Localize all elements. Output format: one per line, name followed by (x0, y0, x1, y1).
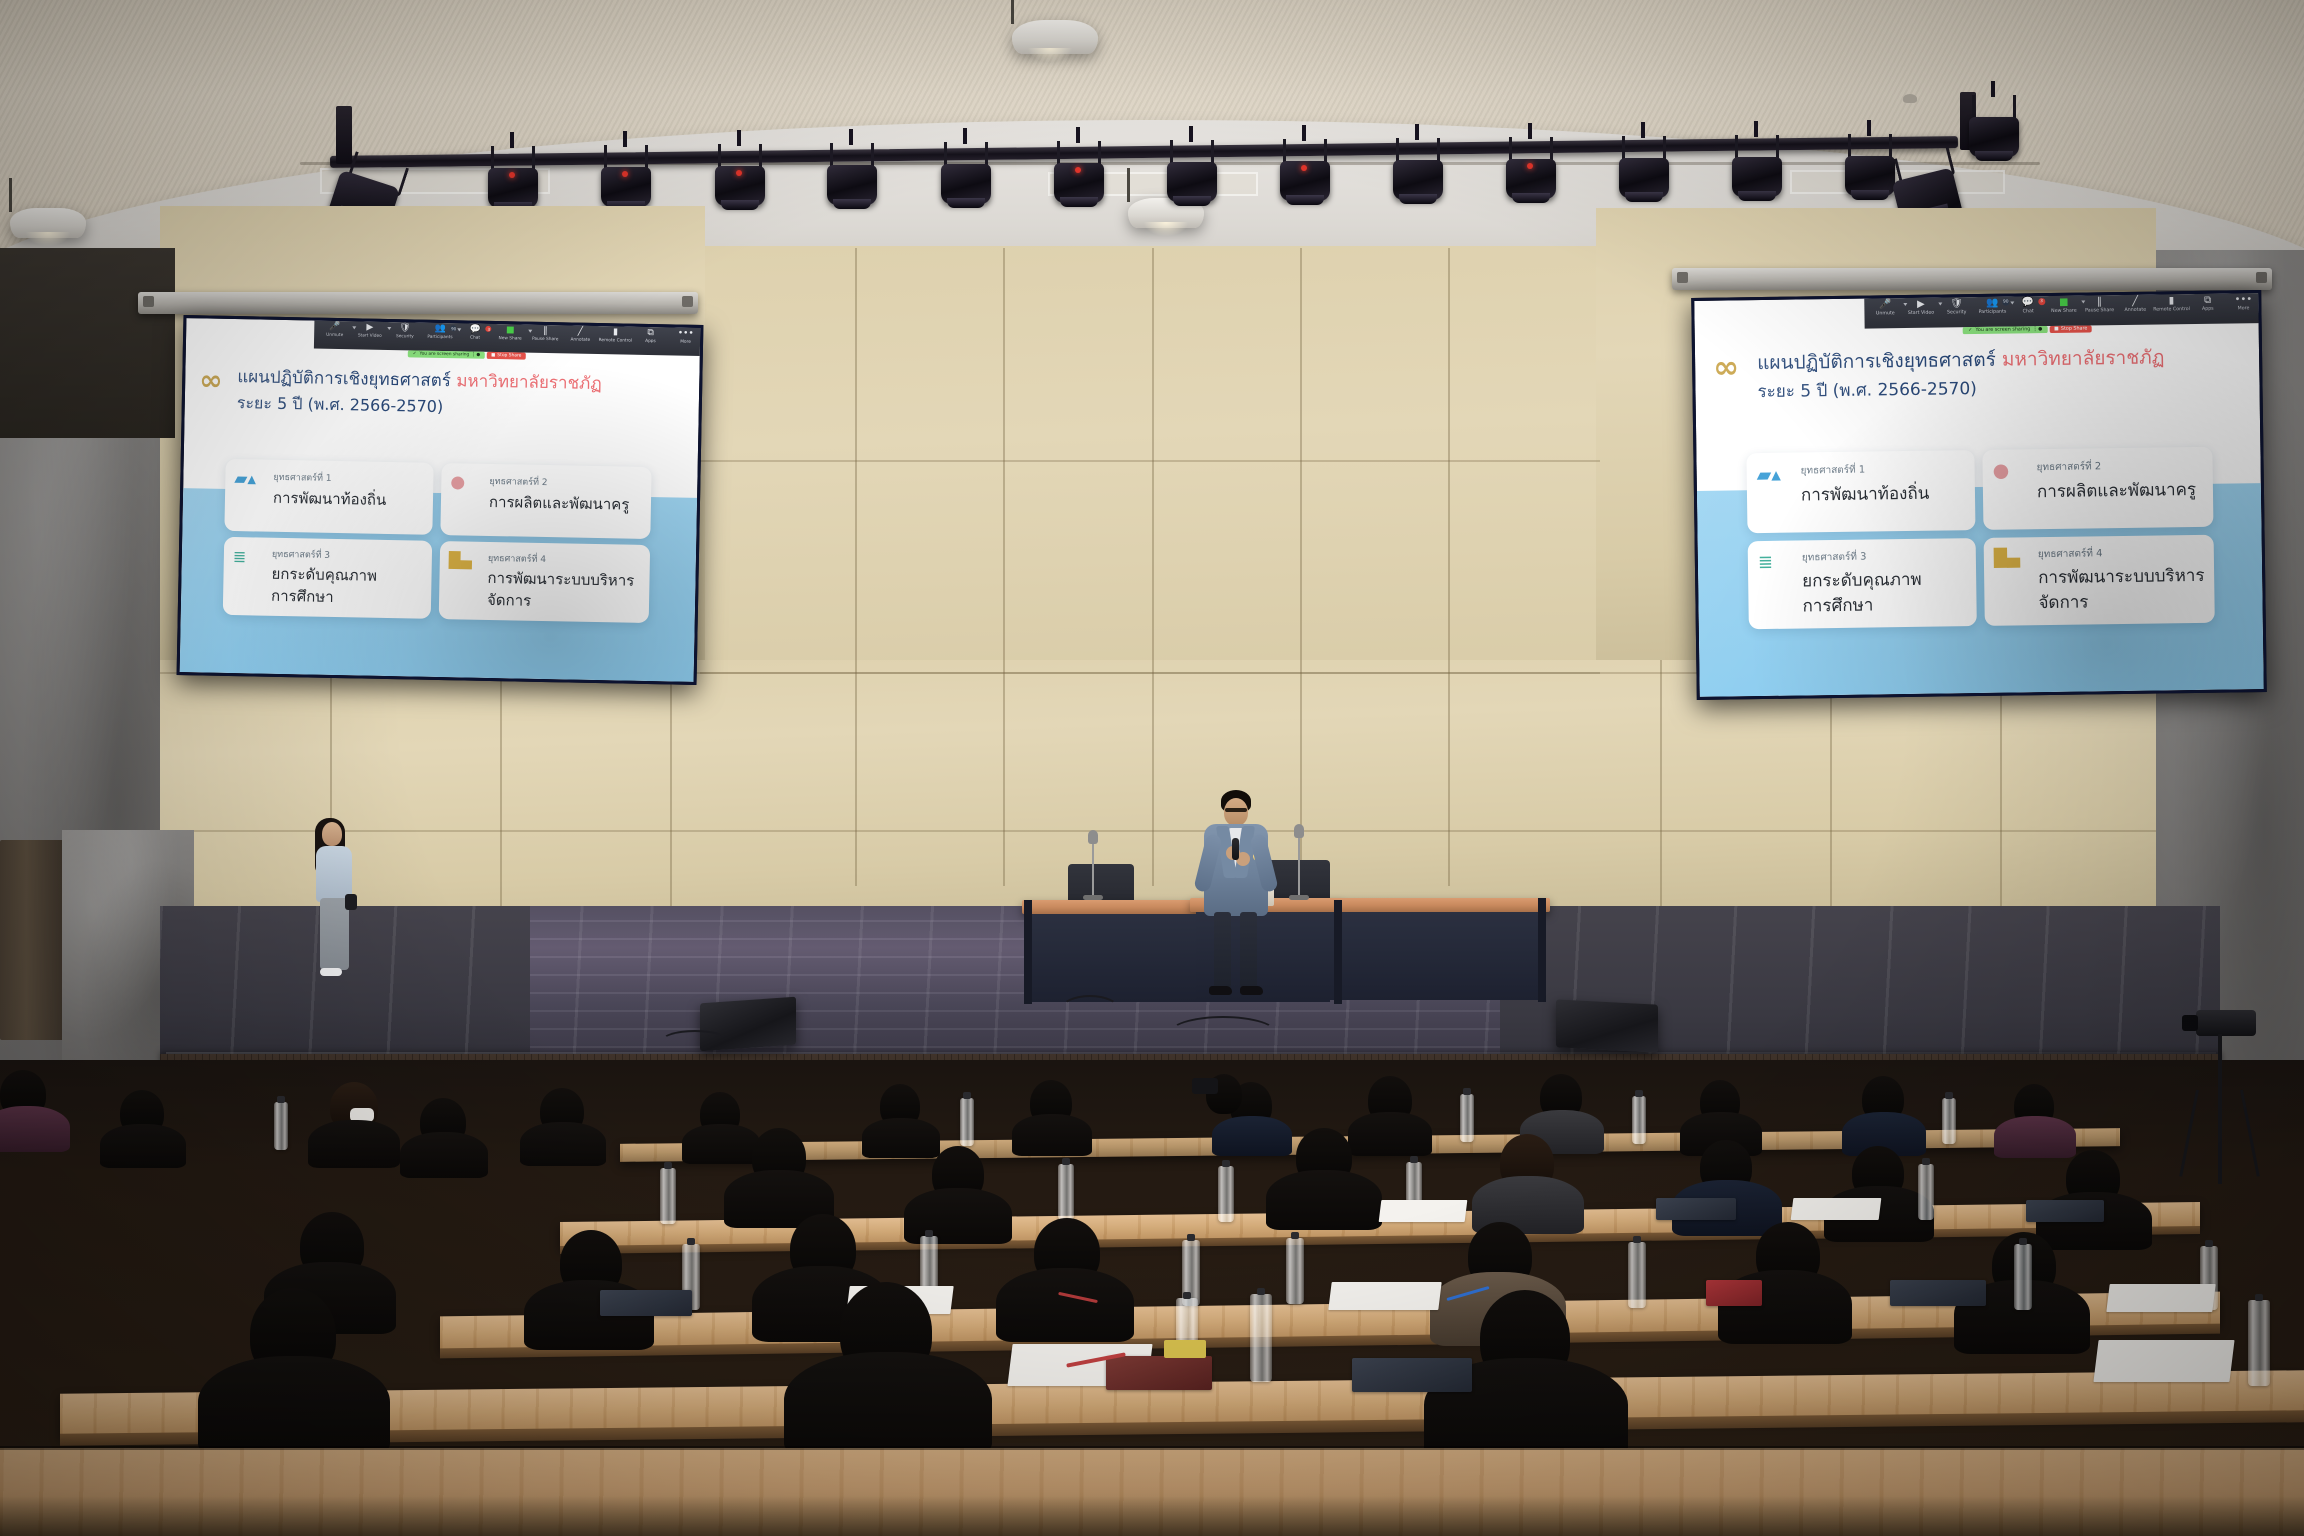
notebook-folder (1352, 1358, 1472, 1392)
audience-shoulders (996, 1268, 1134, 1342)
zoom-toolbar-label: Security (1947, 310, 1966, 315)
dark-wall-left (0, 248, 175, 438)
zoom-toolbar-label: New Share (2051, 309, 2076, 314)
audience-shoulders (520, 1122, 606, 1166)
screen-sharing-indicator: ✓You are screen sharing┆ ● (408, 350, 485, 358)
zoom-toolbar-annotate[interactable]: ╱Annotate (563, 327, 598, 343)
panel-seam (2000, 660, 2002, 910)
zoom-toolbar-label: More (680, 340, 691, 345)
water-bottle (1058, 1164, 1074, 1220)
sharing-status-text: You are screen sharing (1976, 327, 2031, 333)
zoom-toolbar-label: Chat (470, 336, 480, 341)
panel-seam (855, 248, 857, 886)
slide-right: 🎤Unmute▶Start Video🛡Security👥Participant… (1694, 293, 2263, 697)
water-bottle (1918, 1164, 1934, 1220)
presenter-on-stage (1198, 790, 1278, 1058)
shield-icon: 🛡 (399, 324, 411, 333)
zoom-toolbar-label: Unmute (326, 333, 343, 338)
books-icon: ≣ (233, 549, 247, 565)
participants-icon: 👥 (434, 325, 445, 334)
ellipsis-icon: ••• (2235, 295, 2253, 305)
water-bottle (274, 1102, 288, 1150)
strategy-card-3-kicker: ยุทธศาสตร์ที่ 3 (272, 547, 330, 562)
slide-title-main: แผนปฏิบัติการเชิงยุทธศาสตร์ (237, 367, 456, 391)
zoom-toolbar-label: Participants (1979, 310, 2007, 315)
audience-shoulders-front (198, 1356, 390, 1456)
camera-body (1192, 1078, 1218, 1094)
slide-title-accent: มหาวิทยาลัยราชภัฏ (456, 371, 602, 394)
zoom-toolbar-label: Apps (2202, 307, 2214, 312)
strategy-card-3-title-line2: การศึกษา (1802, 591, 1873, 619)
panel-seam (700, 460, 1600, 462)
water-bottle (1460, 1094, 1474, 1142)
strategy-card-3[interactable]: ≣ ยุทธศาสตร์ที่ 3 ยกระดับคุณภาพ การศึกษา (1748, 538, 1977, 629)
water-bottle (960, 1098, 974, 1146)
presenter-shoe-right (1240, 986, 1263, 995)
notebook-folder (1890, 1280, 1986, 1306)
stop-share-button[interactable]: ■Stop Share (2050, 325, 2092, 333)
sharing-status-text: You are screen sharing (419, 352, 469, 358)
stage-table-leg (1024, 900, 1032, 1004)
audience-shoulders (862, 1118, 940, 1158)
zoom-share-status-bar[interactable]: ✓You are screen sharing┆ ●■Stop Share (408, 350, 526, 359)
pencil-icon: ╱ (2132, 297, 2138, 307)
presenter-glasses (1225, 808, 1247, 812)
zoom-toolbar-label: Chat (2023, 309, 2034, 314)
audience-shoulders (1994, 1116, 2076, 1158)
panel-seam (1152, 248, 1154, 886)
document-sheet (1328, 1282, 1441, 1310)
zoom-toolbar-participants[interactable]: 👥Participants90 (1974, 299, 2010, 315)
strategy-card-1-kicker: ยุทธศาสตร์ที่ 1 (1801, 463, 1866, 479)
strategy-card-2-kicker: ยุทธศาสตร์ที่ 2 (489, 474, 547, 489)
community-icon: ▰▴ (234, 471, 256, 488)
remote-control-icon: ▮ (613, 328, 618, 337)
audience-shoulders (682, 1124, 760, 1164)
presenter-leg-left (1214, 912, 1231, 988)
share-check-icon: ✓ (1968, 328, 1972, 333)
zoom-meeting-toolbar[interactable]: 🎤Unmute▶Start Video🛡Security👥Participant… (1864, 293, 2263, 328)
stage-table-leg (1538, 898, 1546, 1002)
audience-shoulders (1266, 1170, 1382, 1230)
strategy-card-3-title-line2: การศึกษา (271, 584, 334, 609)
staff-shoe (320, 968, 342, 976)
panel-seam (1300, 248, 1302, 886)
zoom-toolbar-label: Apps (645, 339, 656, 344)
panel-seam (1660, 660, 1662, 910)
community-icon: ▰▴ (1757, 466, 1781, 485)
zoom-toolbar-label: More (2238, 306, 2250, 311)
share-controls-icon[interactable]: ┆ ● (2034, 327, 2043, 332)
audio-cable (1060, 995, 1120, 1025)
audience-shoulders-front (784, 1352, 992, 1456)
zoom-toolbar-annotate[interactable]: ╱Annotate (2117, 297, 2153, 313)
stop-square-icon: ■ (491, 353, 495, 358)
management-icon: █▄ (1994, 550, 2020, 567)
strategy-card-2-kicker: ยุทธศาสตร์ที่ 2 (2037, 459, 2102, 475)
zoom-toolbar-pause-share[interactable]: ‖Pause Share (2082, 297, 2118, 313)
table-microphone (1288, 832, 1310, 900)
screen-housing (138, 292, 698, 314)
audience-shoulders (1348, 1112, 1432, 1156)
screen-sharing-indicator: ✓You are screen sharing┆ ● (1963, 326, 2048, 334)
panel-seam (670, 660, 672, 910)
strategy-card-4[interactable]: █▄ ยุทธศาสตร์ที่ 4 การพัฒนาระบบบริหาร จั… (439, 541, 650, 623)
staff-handheld-device (345, 894, 357, 910)
zoom-toolbar-new-share[interactable]: ■New Share (2046, 298, 2082, 314)
zoom-toolbar-badge: 90 (451, 325, 457, 331)
stop-share-label: Stop Share (497, 353, 521, 358)
water-bottle (1218, 1166, 1234, 1222)
zoom-toolbar-badge: 90 (2002, 299, 2009, 306)
microphone-icon: 🎤 (1879, 300, 1891, 310)
red-case (1706, 1280, 1762, 1306)
audience-shoulders (400, 1132, 488, 1178)
document-sheet (1379, 1200, 1468, 1222)
staff-member-standing (313, 818, 357, 1018)
apps-icon: ⧉ (647, 329, 654, 338)
sticky-note-pad (1164, 1340, 1206, 1358)
slide-title-main: แผนปฏิบัติการเชิงยุทธศาสตร์ (1757, 349, 2002, 374)
teacher-icon: ● (450, 474, 465, 491)
handheld-microphone (1232, 838, 1239, 860)
zoom-toolbar-new-share[interactable]: ■New Share (493, 326, 528, 342)
apps-icon: ⧉ (2204, 296, 2211, 306)
zoom-toolbar-chat[interactable]: 💬Chat3 (457, 325, 492, 341)
zoom-toolbar-label: Unmute (1876, 311, 1895, 316)
presenter-shoe-left (1209, 986, 1232, 995)
microphone-icon: 🎤 (329, 323, 340, 332)
smoke-detector-icon (1903, 94, 1917, 103)
zoom-toolbar-security[interactable]: 🛡Security (1939, 299, 1975, 315)
stop-share-button[interactable]: ■Stop Share (487, 352, 525, 360)
strategy-card-1-title: การพัฒนาท้องถิ่น (1801, 480, 1930, 509)
audio-cable (660, 1030, 730, 1054)
foreground-table-edge (0, 1446, 2304, 1450)
slide-left: 🎤Unmute▶Start Video🛡Security👥Participant… (180, 318, 701, 682)
teacher-icon: ● (1993, 462, 2010, 481)
stage-door-left (0, 840, 66, 1040)
conference-hall-photo: 🎤Unmute▶Start Video🛡Security👥Participant… (0, 0, 2304, 1536)
truss-hanger (336, 106, 352, 164)
strategy-card-2[interactable]: ● ยุทธศาสตร์ที่ 2 การผลิตและพัฒนาครู (440, 463, 651, 539)
slide-subtitle: ระยะ 5 ปี (พ.ศ. 2566-2570) (237, 391, 444, 420)
notebook-folder (600, 1290, 692, 1316)
zoom-toolbar-label: Start Video (358, 333, 382, 338)
university-emblem-icon: ∞ (1713, 352, 1739, 383)
strategy-card-4-kicker: ยุทธศาสตร์ที่ 4 (2038, 546, 2103, 562)
audience-shoulders (308, 1120, 400, 1168)
photographer (1192, 1068, 1252, 1148)
strategy-card-4[interactable]: █▄ ยุทธศาสตร์ที่ 4 การพัฒนาระบบบริหาร จั… (1984, 535, 2215, 626)
screen-surface-right: 🎤Unmute▶Start Video🛡Security👥Participant… (1691, 290, 2267, 700)
water-bottle (1250, 1294, 1272, 1382)
zoom-toolbar-badge: 3 (486, 326, 492, 332)
water-bottle (1942, 1098, 1956, 1144)
strategy-card-1-title: การพัฒนาท้องถิ่น (273, 486, 387, 512)
water-bottle (660, 1168, 676, 1224)
water-bottle (1632, 1096, 1646, 1144)
strategy-card-3[interactable]: ≣ ยุทธศาสตร์ที่ 3 ยกระดับคุณภาพ การศึกษา (223, 537, 432, 619)
strategy-card-4-title: การพัฒนาระบบบริหาร (2038, 562, 2205, 591)
stop-square-icon: ■ (2054, 327, 2059, 332)
share-check-icon: ✓ (413, 351, 417, 356)
participants-icon: 👥 (1986, 299, 1998, 309)
zoom-toolbar-unmute[interactable]: 🎤Unmute (1867, 300, 1903, 316)
document-sheet (1791, 1198, 1882, 1220)
document-sheet (2093, 1340, 2234, 1382)
water-bottle (1628, 1242, 1646, 1308)
staff-head (322, 822, 342, 846)
zoom-toolbar-apps[interactable]: ⧉Apps (2190, 296, 2226, 312)
panel-seam (500, 660, 502, 910)
share-screen-icon: ■ (2059, 298, 2068, 308)
panel-seam (160, 830, 2156, 832)
strategy-card-1[interactable]: ▰▴ ยุทธศาสตร์ที่ 1 การพัฒนาท้องถิ่น (224, 459, 433, 535)
zoom-meeting-toolbar[interactable]: 🎤Unmute▶Start Video🛡Security👥Participant… (314, 321, 700, 357)
zoom-toolbar-start-video[interactable]: ▶Start Video (352, 323, 387, 339)
panel-seam (1003, 248, 1005, 886)
zoom-toolbar-apps[interactable]: ⧉Apps (633, 329, 668, 345)
zoom-toolbar-start-video[interactable]: ▶Start Video (1903, 300, 1939, 316)
zoom-toolbar-label: Pause Share (532, 337, 558, 343)
strategy-card-4-kicker: ยุทธศาสตร์ที่ 4 (488, 551, 546, 566)
zoom-toolbar-label: Security (396, 334, 414, 339)
document-sheet (2106, 1284, 2215, 1312)
panel-seam (1448, 248, 1450, 886)
foreground-shadow (0, 1496, 2304, 1536)
zoom-toolbar-label: Participants (427, 335, 452, 340)
zoom-toolbar-more[interactable]: •••More (2225, 295, 2261, 311)
zoom-toolbar-label: Remote Control (2153, 307, 2190, 313)
ellipsis-icon: ••• (678, 330, 694, 339)
zoom-toolbar-label: Annotate (570, 337, 590, 342)
slide-subtitle: ระยะ 5 ปี (พ.ศ. 2566-2570) (1757, 375, 1977, 405)
water-bottle (1286, 1238, 1304, 1304)
audience-shoulders (904, 1188, 1012, 1244)
chat-bubble-icon: 💬 (469, 326, 480, 335)
audience-shoulders (100, 1124, 186, 1168)
presenter-leg-right (1240, 912, 1257, 988)
slide-title: แผนปฏิบัติการเชิงยุทธศาสตร์ มหาวิทยาลัยร… (1757, 342, 2165, 378)
video-camera-icon: ▶ (1917, 300, 1925, 310)
zoom-toolbar-security[interactable]: 🛡Security (387, 324, 422, 340)
zoom-toolbar-label: New Share (498, 336, 521, 341)
pause-icon: ‖ (2097, 297, 2102, 307)
strategy-card-2[interactable]: ● ยุทธศาสตร์ที่ 2 การผลิตและพัฒนาครู (1982, 447, 2213, 530)
books-icon: ≣ (1758, 554, 1773, 572)
audience-shoulders (0, 1106, 70, 1152)
zoom-toolbar-chat[interactable]: 💬Chat3 (2010, 298, 2046, 314)
zoom-toolbar-label: Remote Control (599, 338, 633, 344)
zoom-toolbar-label: Annotate (2124, 308, 2146, 313)
zoom-toolbar-label: Start Video (1908, 311, 1934, 316)
university-emblem-icon: ∞ (199, 366, 223, 394)
stop-share-label: Stop Share (2061, 327, 2088, 332)
maroon-notebook (1106, 1356, 1212, 1390)
zoom-share-status-bar[interactable]: ✓You are screen sharing┆ ●■Stop Share (1963, 325, 2092, 334)
zoom-toolbar-pause-share[interactable]: ‖Pause Share (528, 327, 563, 343)
zoom-toolbar-label: Pause Share (2085, 308, 2114, 313)
audience-shoulders (1012, 1114, 1092, 1156)
shield-icon: 🛡 (1950, 299, 1963, 309)
remote-control-icon: ▮ (2169, 296, 2175, 306)
management-icon: █▄ (449, 553, 472, 568)
pencil-icon: ╱ (578, 328, 584, 337)
zoom-toolbar-remote-control[interactable]: ▮Remote Control (598, 328, 633, 344)
zoom-toolbar-more[interactable]: •••More (668, 329, 700, 345)
strategy-card-4-title-line2: จัดการ (487, 588, 532, 613)
strategy-card-2-title: การผลิตและพัฒนาครู (489, 490, 630, 517)
water-bottle (2014, 1244, 2032, 1310)
notebook-folder (2026, 1200, 2104, 1222)
video-camera-icon: ▶ (366, 324, 373, 333)
strategy-card-2-title: การผลิตและพัฒนาครู (2037, 476, 2197, 505)
share-screen-icon: ■ (506, 326, 515, 335)
notebook-folder (1656, 1198, 1736, 1220)
zoom-toolbar-badge: 3 (2038, 298, 2045, 305)
zoom-toolbar-remote-control[interactable]: ▮Remote Control (2153, 296, 2190, 312)
zoom-toolbar-unmute[interactable]: 🎤Unmute (317, 323, 352, 339)
presenter-head (1224, 798, 1248, 826)
screen-surface-left: 🎤Unmute▶Start Video🛡Security👥Participant… (177, 315, 704, 685)
strategy-card-3-title: ยกระดับคุณภาพ (1802, 566, 1922, 595)
screen-housing (1672, 268, 2272, 290)
table-microphone (1082, 838, 1104, 900)
strategy-card-1-kicker: ยุทธศาสตร์ที่ 1 (273, 470, 331, 485)
share-controls-icon[interactable]: ┆ ● (472, 353, 480, 358)
stage-monitor-speaker-right (1556, 999, 1658, 1052)
strategy-card-1[interactable]: ▰▴ ยุทธศาสตร์ที่ 1 การพัฒนาท้องถิ่น (1746, 450, 1975, 533)
stage-table-leg (1334, 900, 1342, 1004)
water-bottle (2248, 1300, 2270, 1386)
zoom-toolbar-participants[interactable]: 👥Participants90 (422, 325, 457, 341)
chat-bubble-icon: 💬 (2022, 298, 2034, 308)
strategy-card-3-kicker: ยุทธศาสตร์ที่ 3 (1802, 550, 1867, 566)
pause-icon: ‖ (543, 327, 548, 336)
strategy-card-4-title-line2: จัดการ (2038, 588, 2088, 616)
slide-title-accent: มหาวิทยาลัยราชภัฏ (2002, 346, 2165, 370)
